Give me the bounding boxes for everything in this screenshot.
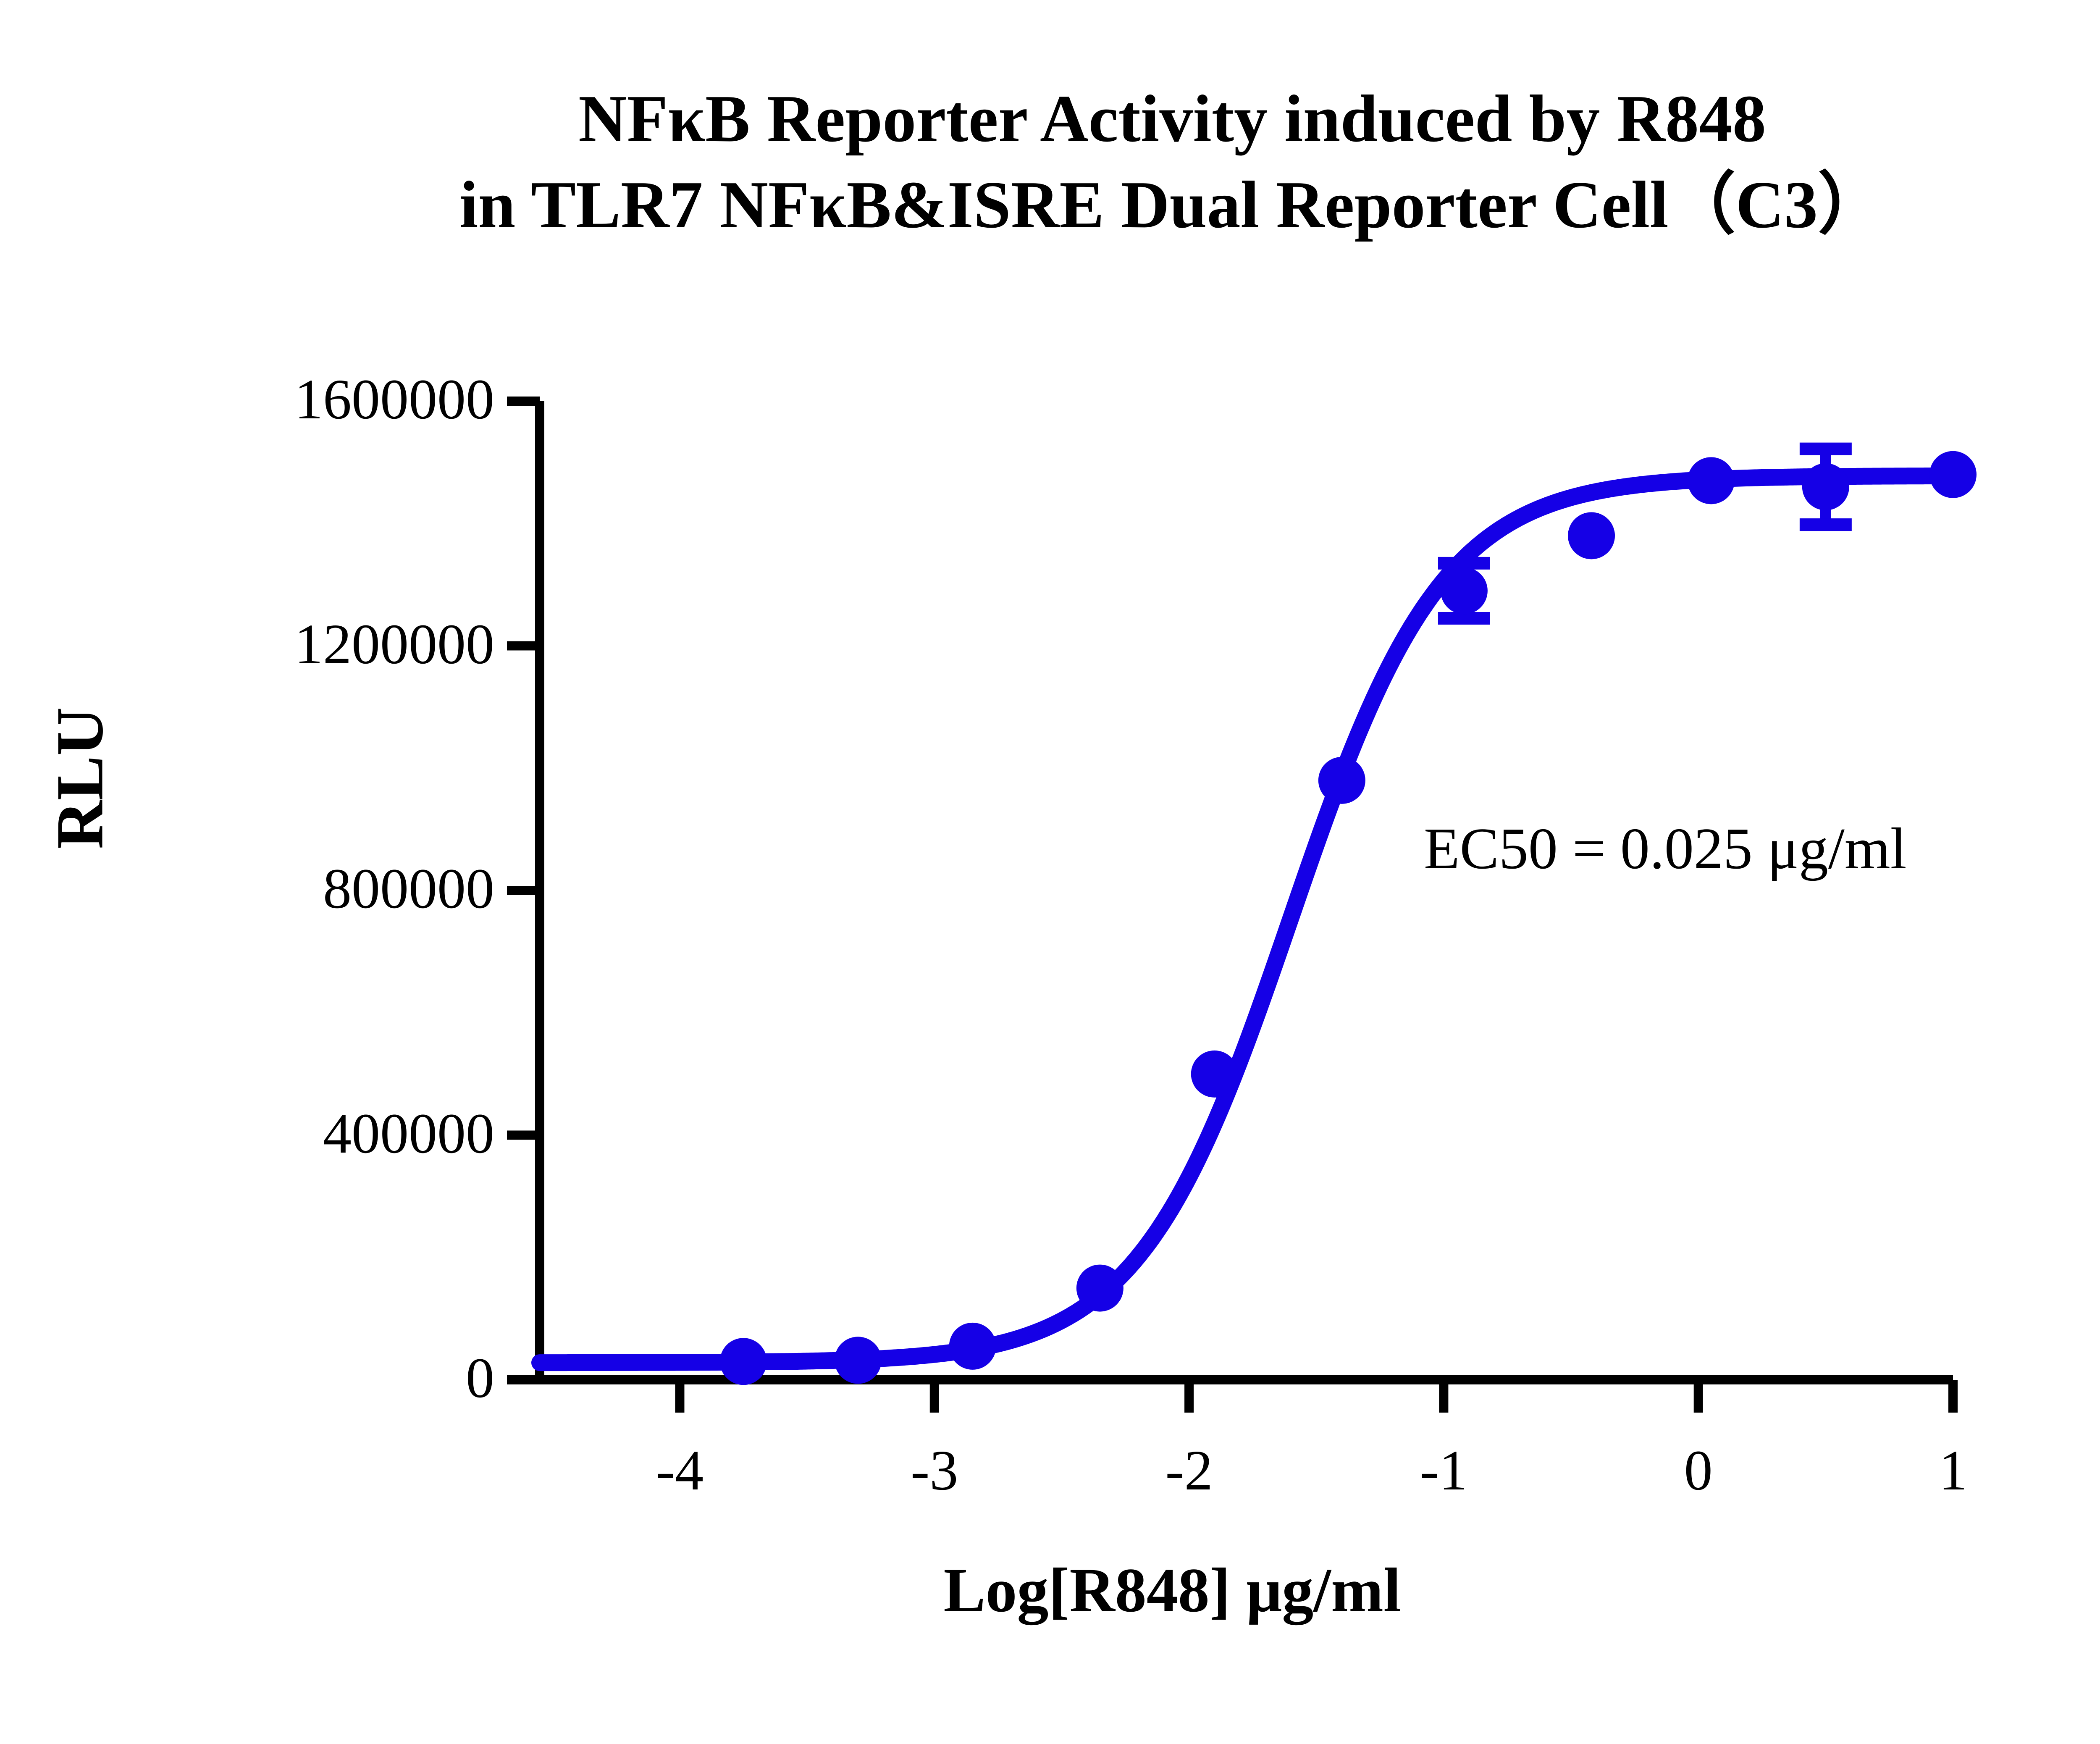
data-point-marker[interactable] (1076, 1265, 1123, 1312)
y-tick-label: 1600000 (150, 371, 494, 428)
data-point-marker[interactable] (1318, 757, 1365, 804)
x-tick-label: -3 (871, 1442, 997, 1499)
y-tick-label: 0 (150, 1350, 494, 1407)
data-point-marker[interactable] (1191, 1051, 1238, 1098)
x-tick-label: -4 (617, 1442, 743, 1499)
data-point-marker[interactable] (1568, 512, 1615, 559)
data-point-marker[interactable] (1802, 463, 1849, 510)
y-tick-label: 800000 (150, 860, 494, 917)
data-point-marker[interactable] (835, 1337, 882, 1384)
plot-area: 040000080000012000001600000 -4-3-2-101 (0, 0, 2100, 1744)
data-point-marker[interactable] (1688, 457, 1735, 504)
y-tick-label: 1200000 (150, 616, 494, 673)
data-point-marker[interactable] (1441, 567, 1488, 614)
x-tick-label: 0 (1635, 1442, 1761, 1499)
x-tick-label: -1 (1381, 1442, 1507, 1499)
data-point-marker[interactable] (720, 1338, 767, 1385)
chart-figure: NFκB Reporter Activity induced by R848 i… (0, 0, 2100, 1744)
y-tick-label: 400000 (150, 1105, 494, 1162)
fit-curve (540, 476, 1953, 1363)
x-tick-label: 1 (1890, 1442, 2016, 1499)
x-tick-label: -2 (1126, 1442, 1252, 1499)
data-point-marker[interactable] (1929, 451, 1977, 498)
data-point-marker[interactable] (949, 1323, 996, 1370)
